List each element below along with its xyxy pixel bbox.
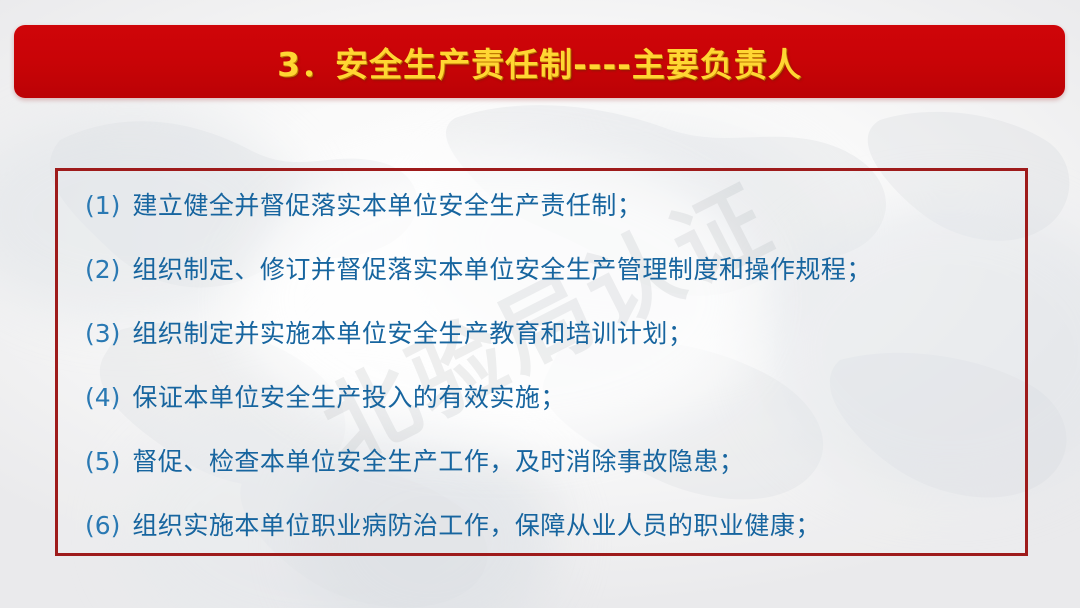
list-item-text: 组织实施本单位职业病防治工作，保障从业人员的职业健康； [132, 506, 821, 542]
page-title: 3．安全生产责任制----主要负责人 [277, 38, 802, 86]
list-item-number: (5) [85, 447, 120, 476]
list-item-number: (6) [85, 511, 120, 540]
list-item: (3) 组织制定并实施本单位安全生产教育和培训计划； [85, 314, 1015, 378]
list-item-text: 组织制定并实施本单位安全生产教育和培训计划； [132, 314, 693, 350]
slide-canvas: 北验局认证 3．安全生产责任制----主要负责人 (1) 建立健全并督促落实本单… [0, 0, 1080, 608]
list-item: (5) 督促、检查本单位安全生产工作，及时消除事故隐患； [85, 442, 1015, 506]
list-item-number: (2) [85, 255, 120, 284]
list-item-text: 建立健全并督促落实本单位安全生产责任制； [132, 186, 642, 222]
list-item: (1) 建立健全并督促落实本单位安全生产责任制； [85, 186, 1015, 250]
title-banner: 3．安全生产责任制----主要负责人 [14, 25, 1065, 98]
list-item: (2) 组织制定、修订并督促落实本单位安全生产管理制度和操作规程； [85, 250, 1015, 314]
list-item-text: 保证本单位安全生产投入的有效实施； [132, 378, 566, 414]
list-item-number: (4) [85, 383, 120, 412]
list-item-number: (3) [85, 319, 120, 348]
list-item: (4) 保证本单位安全生产投入的有效实施； [85, 378, 1015, 442]
responsibility-list: (1) 建立健全并督促落实本单位安全生产责任制； (2) 组织制定、修订并督促落… [85, 186, 1015, 570]
list-item-text: 督促、检查本单位安全生产工作，及时消除事故隐患； [132, 442, 744, 478]
list-item-text: 组织制定、修订并督促落实本单位安全生产管理制度和操作规程； [132, 250, 872, 286]
list-item: (6) 组织实施本单位职业病防治工作，保障从业人员的职业健康； [85, 506, 1015, 570]
list-item-number: (1) [85, 191, 120, 220]
